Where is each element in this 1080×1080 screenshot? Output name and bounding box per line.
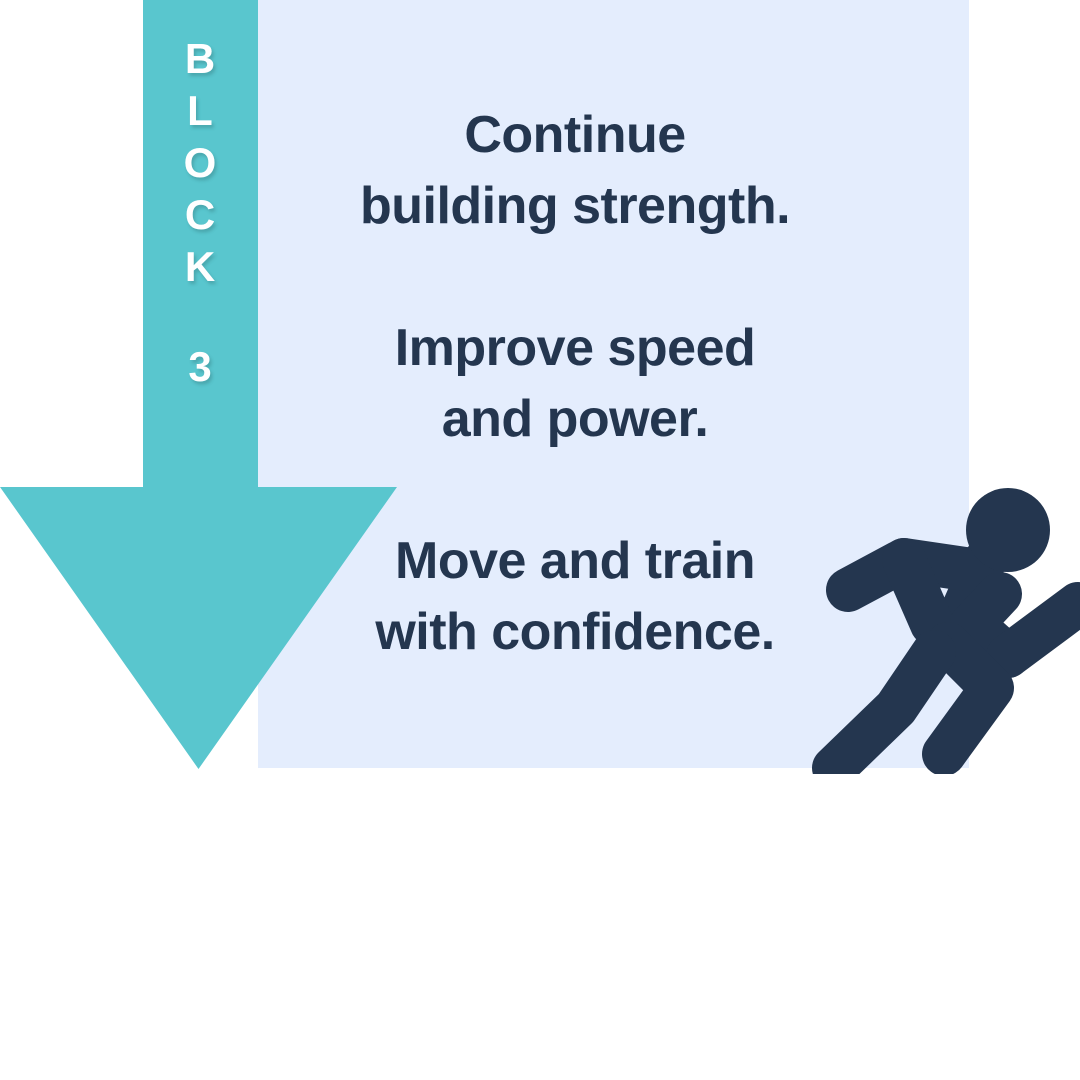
copy-line: Continue (258, 100, 892, 171)
copy-block-strength: Continue building strength. (258, 100, 892, 242)
copy-line: Improve speed (258, 313, 892, 384)
copy-line: building strength. (258, 171, 892, 242)
copy-line: with confidence. (258, 597, 892, 668)
copy-block-speed: Improve speed and power. (258, 313, 892, 455)
copy-block-confidence: Move and train with confidence. (258, 526, 892, 668)
copy-line: and power. (258, 384, 892, 455)
infographic-canvas: B L O C K 3 Continue building strength. … (0, 0, 1080, 1080)
running-person-icon (812, 484, 1080, 774)
copy-line: Move and train (258, 526, 892, 597)
